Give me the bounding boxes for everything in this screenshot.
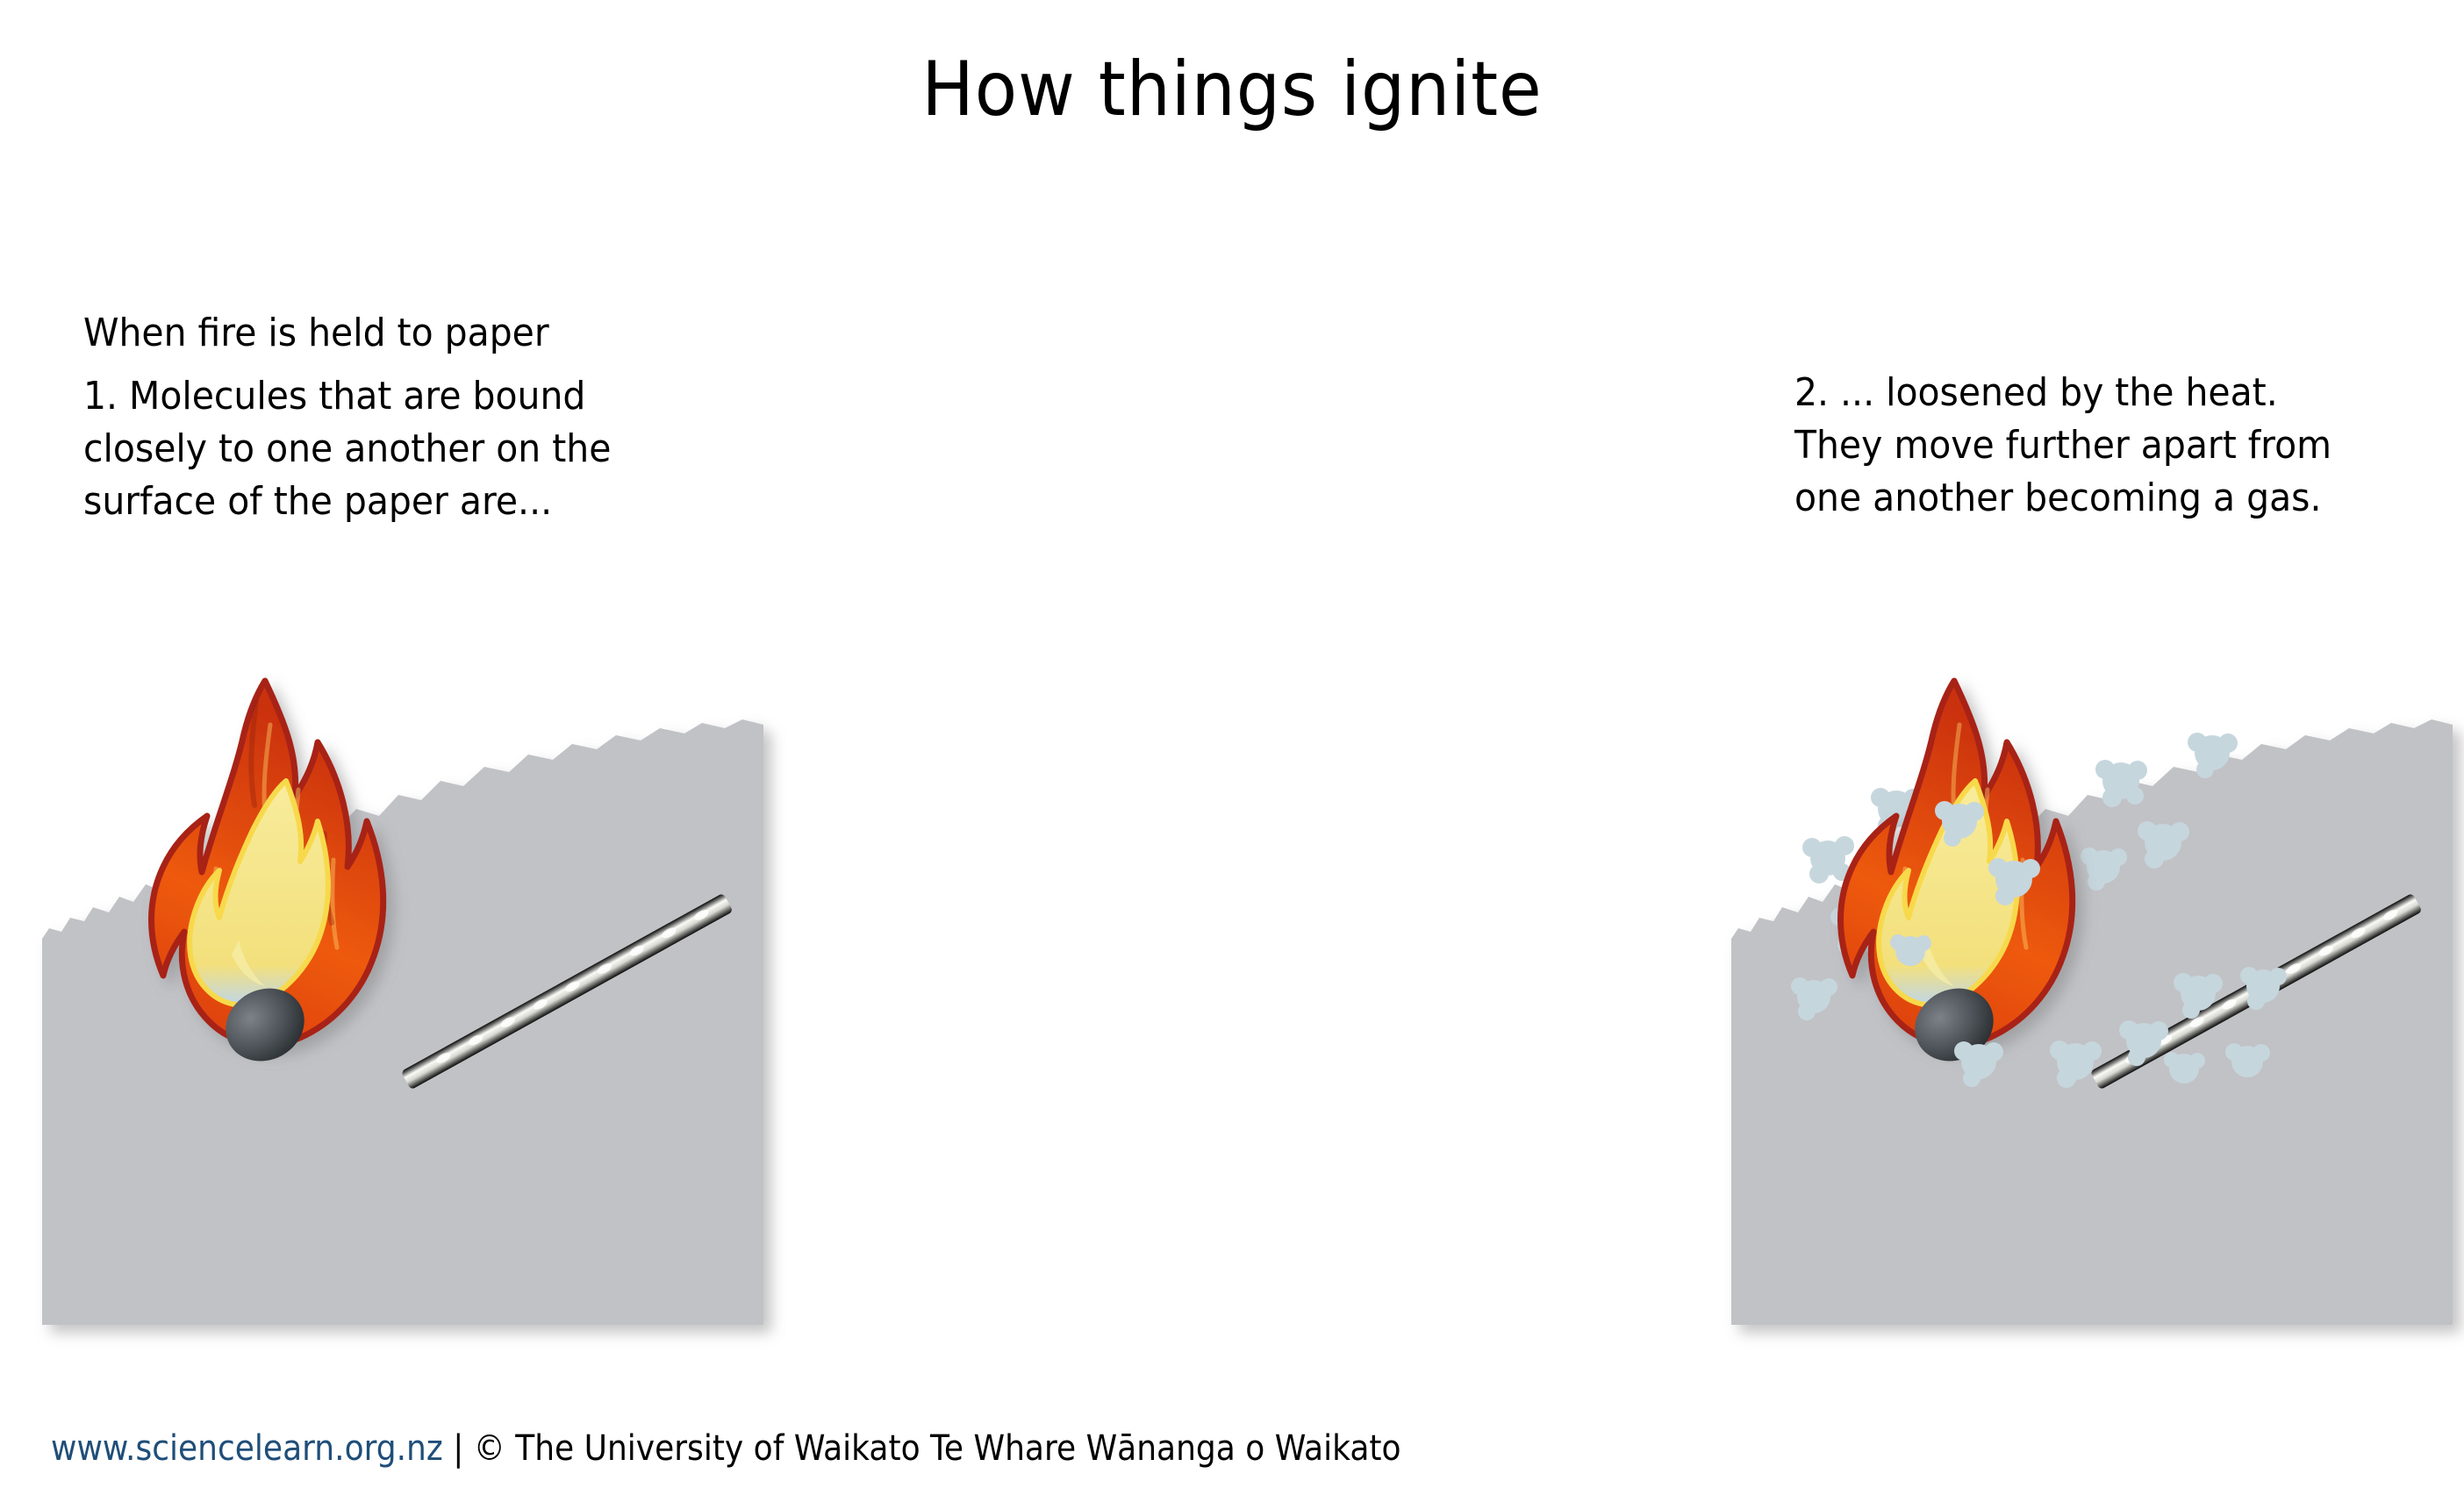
illustration-step-1 <box>35 649 807 1351</box>
panel-step-3: 3. The gas molecules combine with oxygen… <box>1685 0 2464 1488</box>
sciencelearn-url-link[interactable]: www.sciencelearn.org.nz <box>51 1428 443 1469</box>
panel-1-step-text: 1. Molecules that are bound closely to o… <box>83 370 704 527</box>
panel-step-2: 2. ... loosened by the heat. They move f… <box>842 0 1685 1488</box>
footer-attribution: www.sciencelearn.org.nz | © The Universi… <box>51 1428 1401 1469</box>
panel-1-text: When fire is held to paper 1. Molecules … <box>83 314 704 527</box>
footer-separator: | <box>453 1428 463 1469</box>
panel-1-lede: When fire is held to paper <box>83 314 704 353</box>
panel-step-1: When fire is held to paper 1. Molecules … <box>0 0 842 1488</box>
copyright-attribution-text: © The University of Waikato Te Whare Wān… <box>474 1428 1401 1469</box>
paper-sheet <box>42 719 763 1325</box>
